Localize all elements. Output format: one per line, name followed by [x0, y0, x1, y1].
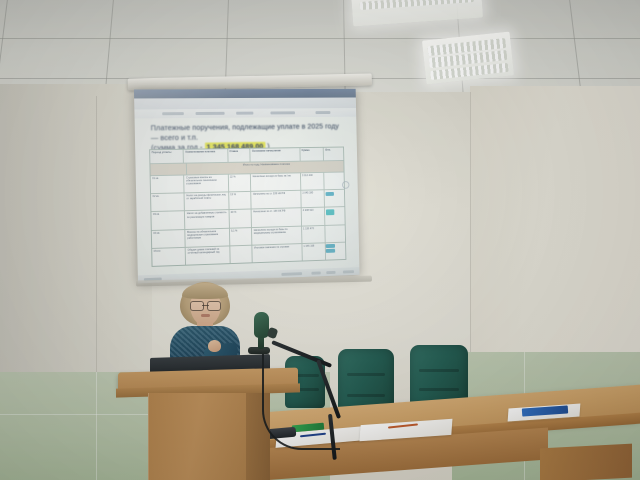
row-name: Налог на доходы физических лиц от зарабо… [185, 193, 229, 211]
row-sum: 3 112 440 [301, 173, 325, 190]
row-mark [324, 172, 344, 189]
table-header-cell: Период уплаты [150, 150, 184, 163]
row-sum: 1 345 168 [302, 243, 326, 260]
row-mark [325, 225, 345, 242]
projected-slide: Платежные поручения, подлежащие уплате в… [134, 89, 360, 284]
wall-seam [470, 92, 471, 392]
row-name: Страховые взносы на обязательное пенсион… [185, 175, 229, 193]
row-name: Общая сумма платежей за отчётный календа… [186, 246, 230, 264]
row-rate: 20 % [229, 210, 252, 227]
wall-seam [96, 96, 97, 382]
row-name: Налог на добавленную стоимость по реализ… [185, 210, 229, 228]
table-header-cell: Сумма [300, 148, 324, 161]
row-mark [326, 242, 346, 259]
row-rate: 22 % [228, 174, 251, 191]
projection-screen: Платежные поручения, подлежащие уплате в… [126, 69, 381, 304]
ceiling-light-icon [422, 32, 514, 85]
row-rate: 5,1 % [230, 228, 253, 246]
row-period: 03 кв. [151, 212, 185, 230]
table-leg [540, 444, 632, 480]
row-sum: 2 045 180 [301, 190, 325, 207]
row-mark [325, 190, 345, 207]
eyeglasses-icon [190, 301, 221, 309]
slide-marker-icon [342, 181, 350, 189]
row-basis: Начислено по ст. 226 НК РФ [251, 191, 301, 209]
hair-fringe [182, 283, 228, 299]
conference-room-photo: Платежные поручения, подлежащие уплате в… [0, 0, 640, 480]
row-period: 02 кв. [151, 194, 185, 212]
row-rate [230, 245, 253, 263]
mic-cable [262, 352, 340, 450]
hand [208, 340, 221, 352]
table-header-cell: Основание начисления [251, 148, 301, 161]
table-header-cell: Наименование платежа [184, 149, 228, 163]
mouth [201, 314, 210, 317]
table-header-cell: Ставка [228, 149, 251, 162]
table-band-cell [150, 164, 187, 176]
app-ribbon [134, 108, 356, 118]
row-period: 01 кв. [151, 176, 185, 194]
slide-table: Период уплаты Наименование платежа Ставк… [149, 147, 346, 267]
slide-title-line1: Платежные поручения, подлежащие уплате в… [151, 122, 339, 143]
row-sum: 4 238 910 [301, 208, 325, 225]
row-mark [325, 207, 345, 224]
row-basis: Начислено исходя из базы по медицинскому… [252, 226, 302, 244]
row-basis: Начислено по ст. 164 НК РФ [252, 209, 302, 227]
row-basis: Начислено исходя из базы за I кв. [251, 173, 301, 191]
table-header-cell: Отм. [324, 148, 344, 161]
row-rate: 13 % [229, 192, 252, 209]
row-name: Взносы на обязательное медицинское страх… [186, 228, 230, 246]
row-basis: Итоговое значение по строкам [253, 244, 303, 262]
row-sum: 1 126 470 [302, 226, 326, 243]
row-period: Итого [152, 248, 186, 266]
row-period: 04 кв. [152, 230, 186, 248]
screen-surface: Платежные поручения, подлежащие уплате в… [134, 89, 360, 284]
